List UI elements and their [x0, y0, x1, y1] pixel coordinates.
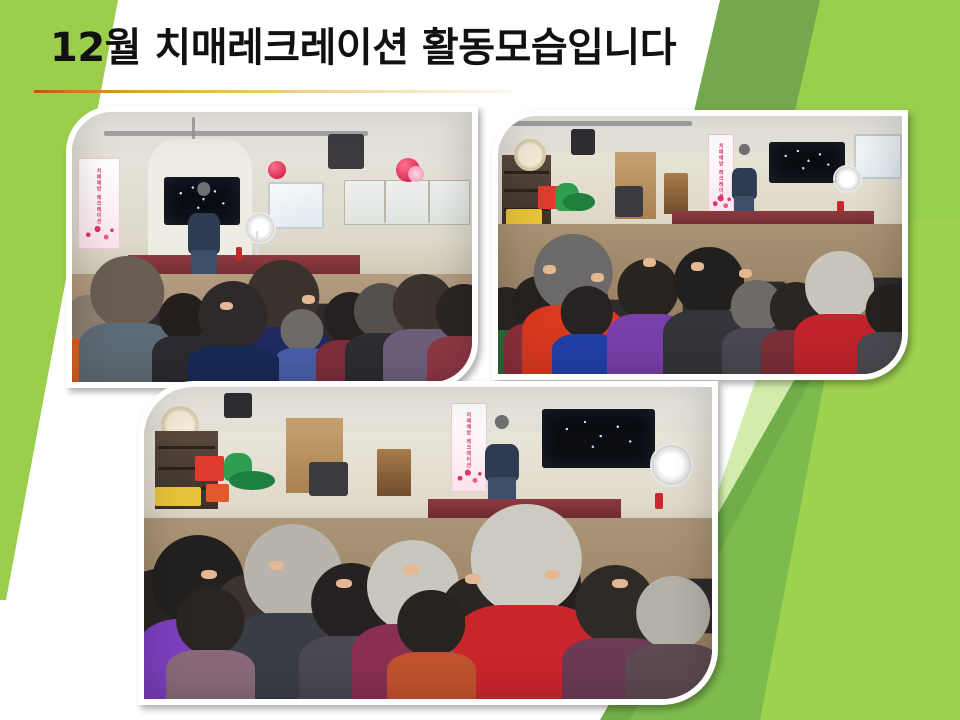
title-divider-rule — [34, 90, 514, 93]
photo-1-banner-text: 치매예방 레크레이션 — [96, 168, 103, 224]
presentation-slide: 12월 치매레크레이션 활동모습입니다 치매예방 레크레이션 — [0, 0, 960, 720]
photo-2-frame[interactable]: 치매예방 레크레이션 — [492, 110, 908, 380]
photo-2-image: 치매예방 레크레이션 — [498, 116, 902, 374]
photo-1-frame[interactable]: 치매예방 레크레이션 — [66, 106, 478, 388]
bottom-right-lime-dark — [810, 390, 960, 720]
photo-3-image: 치매예방 레크레이션 — [144, 387, 712, 699]
photo-1-image: 치매예방 레크레이션 — [72, 112, 472, 382]
slide-title: 12월 치매레크레이션 활동모습입니다 — [50, 26, 840, 70]
photo-3-banner-text: 치매예방 레크레이션 — [465, 412, 472, 468]
photo-3-frame[interactable]: 치매예방 레크레이션 — [138, 381, 718, 705]
bottom-right-pale-band-2 — [730, 360, 960, 720]
